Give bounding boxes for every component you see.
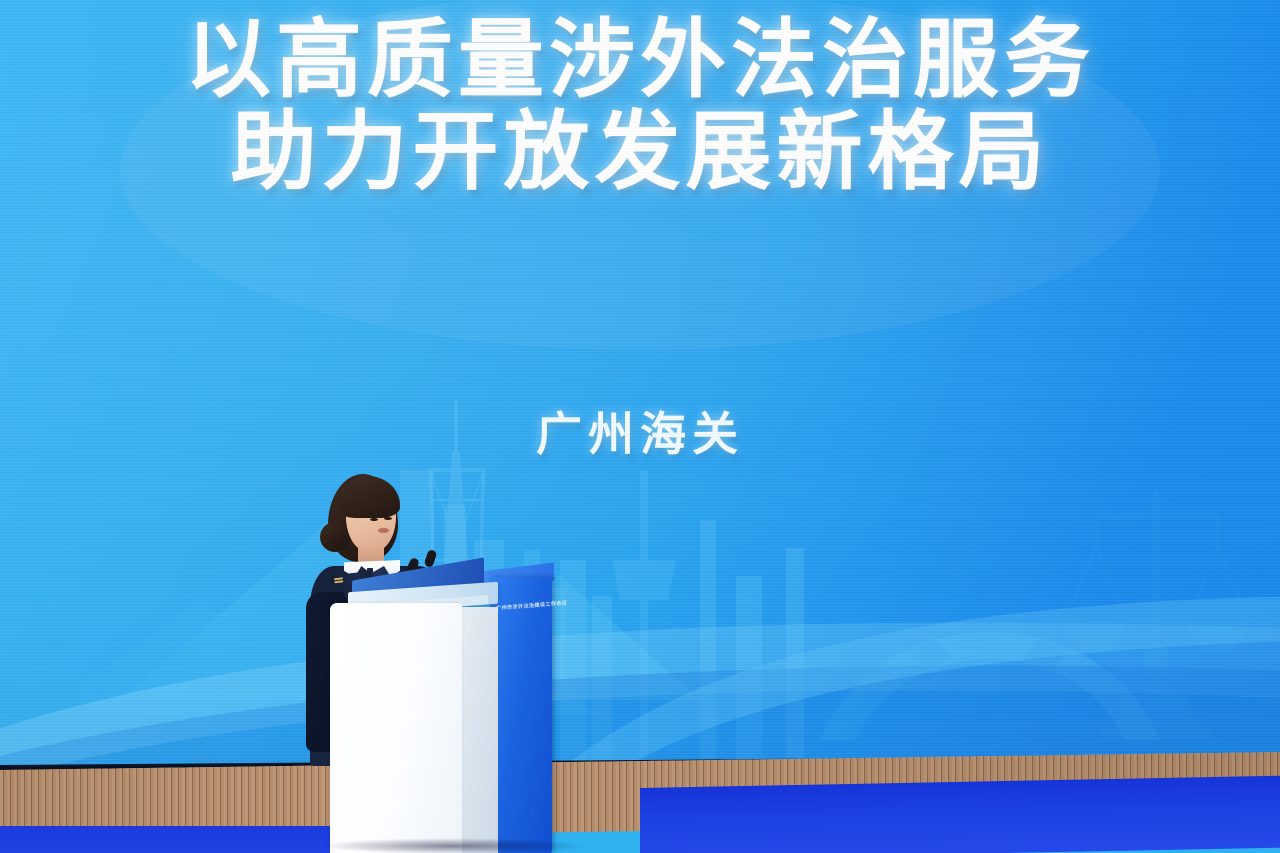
conference-stage-photo: 以高质量涉外法治服务 助力开放发展新格局 广州海关 bbox=[0, 0, 1280, 853]
stage-carpet-left bbox=[0, 826, 360, 853]
led-screen: 以高质量涉外法治服务 助力开放发展新格局 广州海关 bbox=[0, 0, 1280, 766]
podium-floor-shadow bbox=[318, 838, 588, 853]
podium-side-panel bbox=[458, 607, 498, 853]
hair-front bbox=[338, 476, 400, 518]
podium-front-panel bbox=[330, 603, 462, 853]
podium: 广州市涉外法治建设工作会议 bbox=[330, 585, 570, 853]
screen-vignette bbox=[0, 0, 1280, 766]
podium-column bbox=[490, 577, 552, 853]
stage-carpet-right bbox=[640, 776, 1280, 853]
